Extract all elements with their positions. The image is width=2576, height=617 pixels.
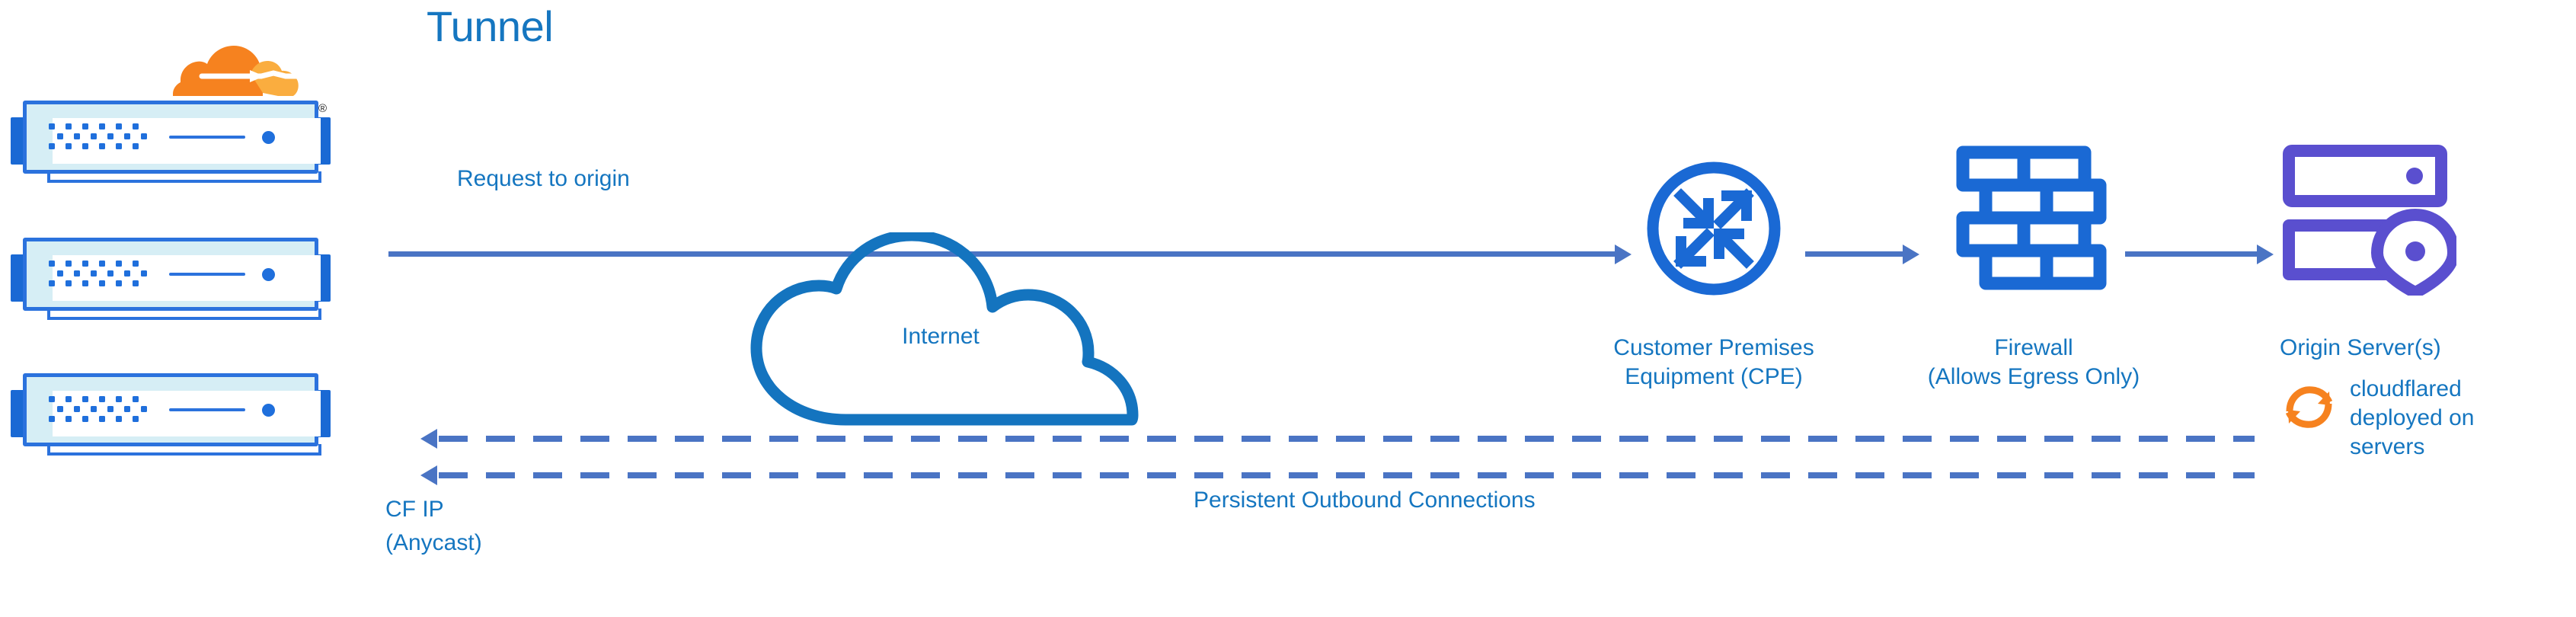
cpe-label-line1: Customer Premises (1569, 334, 1858, 363)
cloudflared-line2: deployed on (2350, 404, 2474, 433)
internet-label: Internet (712, 324, 1169, 350)
cf-ip-label-line2: (Anycast) (385, 529, 482, 558)
cpe-node (1641, 156, 1786, 305)
tunnel-diagram-canvas: Tunnel CLOUDFLARE ® (0, 0, 2576, 617)
server-indicator-line (169, 408, 245, 411)
server-status-led (262, 268, 275, 281)
server-status-led (262, 404, 275, 417)
server-port-dots (49, 261, 148, 288)
cf-ip-label-line1: CF IP (385, 495, 444, 524)
request-flow-arrowhead (1615, 245, 1632, 264)
origin-server-node (2281, 143, 2456, 299)
server-port-dots (49, 396, 148, 424)
router-four-arrows-icon (1641, 156, 1786, 301)
server-rack-icon (11, 373, 331, 456)
persistent-connection-arrowhead-2 (420, 465, 437, 485)
persistent-connection-line-2 (439, 472, 2255, 478)
server-base (47, 171, 321, 183)
persistent-connection-line-1 (439, 436, 2255, 442)
cpe-to-firewall-arrowhead (1903, 245, 1919, 264)
brick-wall-icon (1954, 145, 2114, 297)
cpe-to-firewall-line (1805, 251, 1904, 257)
server-base (47, 308, 321, 320)
server-indicator-line (169, 136, 245, 139)
cpe-label-line2: Equipment (CPE) (1569, 363, 1858, 392)
cloudflared-line3: servers (2350, 433, 2424, 462)
cloudflare-cloud-logo-icon (171, 43, 339, 104)
firewall-label-line2: (Allows Egress Only) (1881, 363, 2186, 392)
server-port-dots (49, 123, 148, 151)
server-location-pin-icon (2281, 143, 2456, 296)
origin-server-label: Origin Server(s) (2280, 334, 2441, 363)
server-base (47, 444, 321, 456)
server-rack-icon (11, 238, 331, 320)
persistent-outbound-connections-label: Persistent Outbound Connections (1194, 486, 1536, 515)
firewall-to-origin-arrowhead (2257, 245, 2274, 264)
firewall-node (1954, 145, 2114, 301)
internet-cloud: Internet (712, 232, 1169, 453)
request-to-origin-label: Request to origin (457, 165, 630, 193)
server-rack-icon (11, 101, 331, 183)
sync-refresh-icon (2280, 378, 2339, 437)
firewall-to-origin-line (2125, 251, 2258, 257)
server-status-led (262, 131, 275, 144)
cloudflared-line1: cloudflared (2350, 375, 2462, 404)
page-title: Tunnel (427, 2, 553, 51)
firewall-label-line1: Firewall (1881, 334, 2186, 363)
server-indicator-line (169, 273, 245, 276)
persistent-connection-arrowhead-1 (420, 429, 437, 449)
